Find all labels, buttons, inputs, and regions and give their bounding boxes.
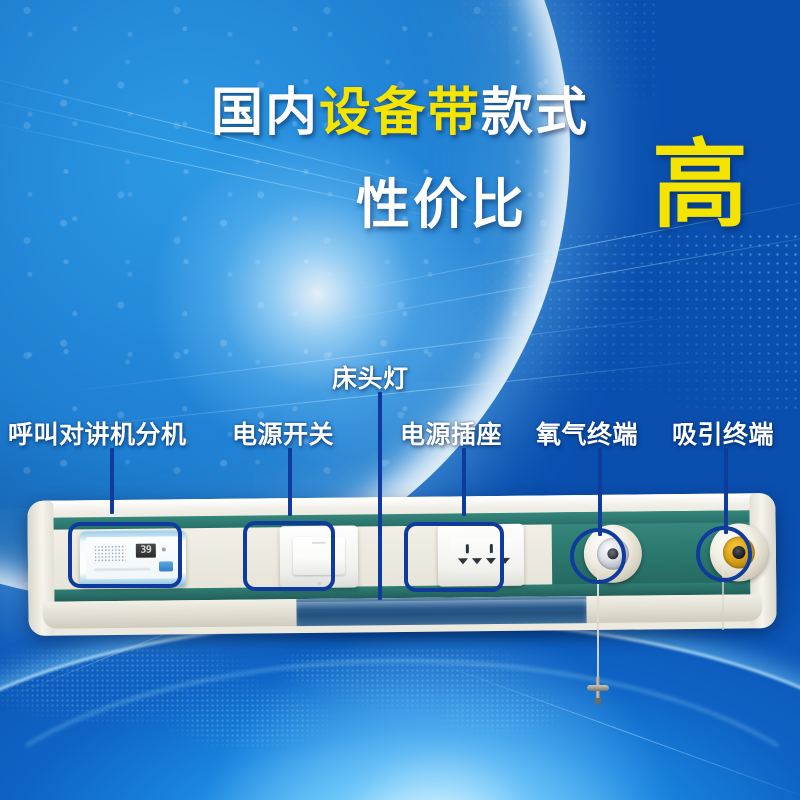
callout-label-power-switch: 电源开关 xyxy=(232,415,334,451)
highlight-circle-oxygen-terminal xyxy=(570,528,626,584)
callout-label-oxygen-terminal: 氧气终端 xyxy=(536,415,638,451)
bedside-lamp-diffuser[interactable] xyxy=(296,596,586,626)
leader-line-suction-terminal xyxy=(724,448,728,534)
callout-label-intercom: 呼叫对讲机分机 xyxy=(8,415,187,451)
leader-line-bedside-lamp xyxy=(378,392,382,600)
headline-value-for-money: 性价比 xyxy=(356,160,527,239)
highlight-box-intercom xyxy=(68,522,182,588)
headline-big-char-high: 高 xyxy=(652,138,748,234)
callout-label-power-socket: 电源插座 xyxy=(400,415,502,451)
highlight-box-power-switch xyxy=(243,521,335,591)
callout-label-bedside-lamp: 床头灯 xyxy=(332,359,409,395)
highlight-circle-suction-terminal xyxy=(696,526,752,582)
leader-line-power-socket xyxy=(462,448,466,516)
leader-line-power-switch xyxy=(288,448,292,516)
highlight-box-power-socket xyxy=(404,522,504,592)
cord-end-hook-icon xyxy=(587,676,609,702)
promo-banner: 国内设备带款式 性价比 高 呼叫对讲机分机 电源开关 床头灯 电源插座 氧气终端… xyxy=(0,0,800,800)
leader-line-oxygen-terminal xyxy=(598,448,602,536)
lamp-gloss-highlight xyxy=(296,599,586,610)
leader-line-intercom xyxy=(110,448,114,514)
headline-line-2-row: 性价比 高 xyxy=(0,152,800,262)
callout-label-suction-terminal: 吸引终端 xyxy=(672,415,774,451)
